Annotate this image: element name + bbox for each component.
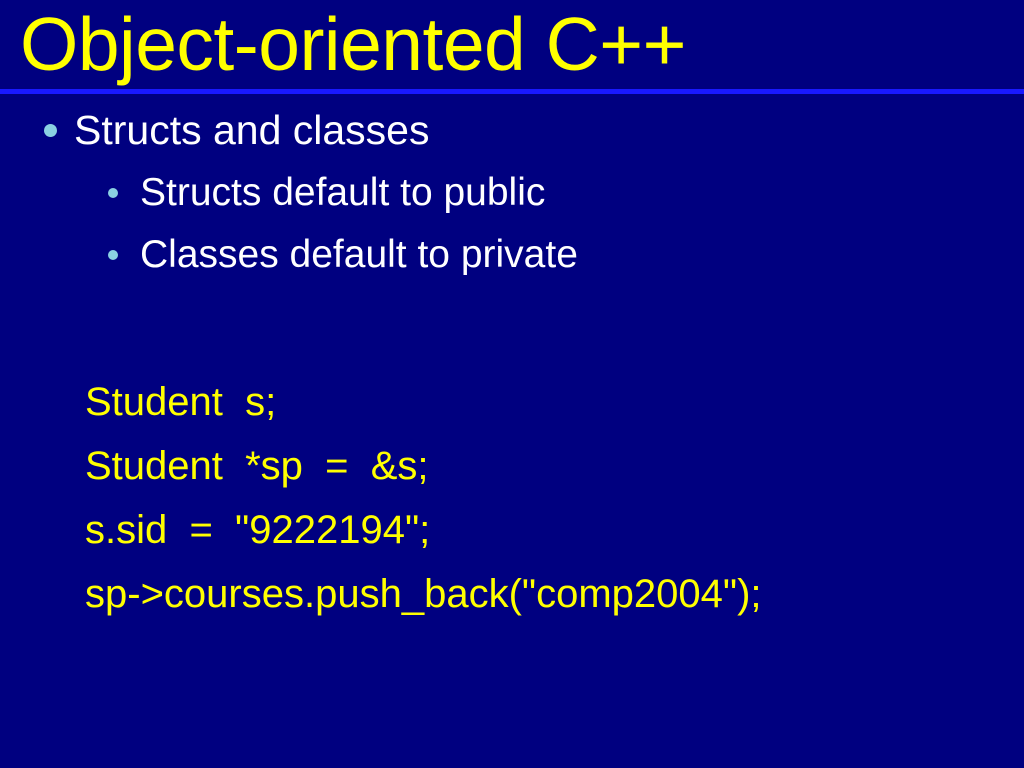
- code-line: s.sid = "9222194";: [85, 498, 1005, 562]
- bullet-marker-icon: [108, 188, 118, 198]
- bullet-marker-icon: [44, 124, 57, 137]
- bullet-marker-icon: [108, 250, 118, 260]
- code-line: sp->courses.push_back("comp2004");: [85, 562, 1005, 626]
- slide-title-area: Object-oriented C++: [0, 0, 1024, 90]
- page-title: Object-oriented C++: [20, 4, 686, 84]
- list-item-label: Structs and classes: [74, 106, 430, 154]
- list-item-label: Structs default to public: [140, 170, 545, 216]
- code-line: Student *sp = &s;: [85, 434, 1005, 498]
- code-block: Student s; Student *sp = &s; s.sid = "92…: [85, 370, 1005, 626]
- list-item-label: Classes default to private: [140, 232, 578, 278]
- presentation-slide: Object-oriented C++ Structs and classes …: [0, 0, 1024, 768]
- list-item: Classes default to private: [108, 232, 1008, 278]
- code-line: Student s;: [85, 370, 1005, 434]
- list-item: Structs default to public: [108, 170, 1008, 216]
- list-item: Structs and classes: [44, 106, 1004, 154]
- slide-body: Structs and classes Structs default to p…: [0, 94, 1024, 768]
